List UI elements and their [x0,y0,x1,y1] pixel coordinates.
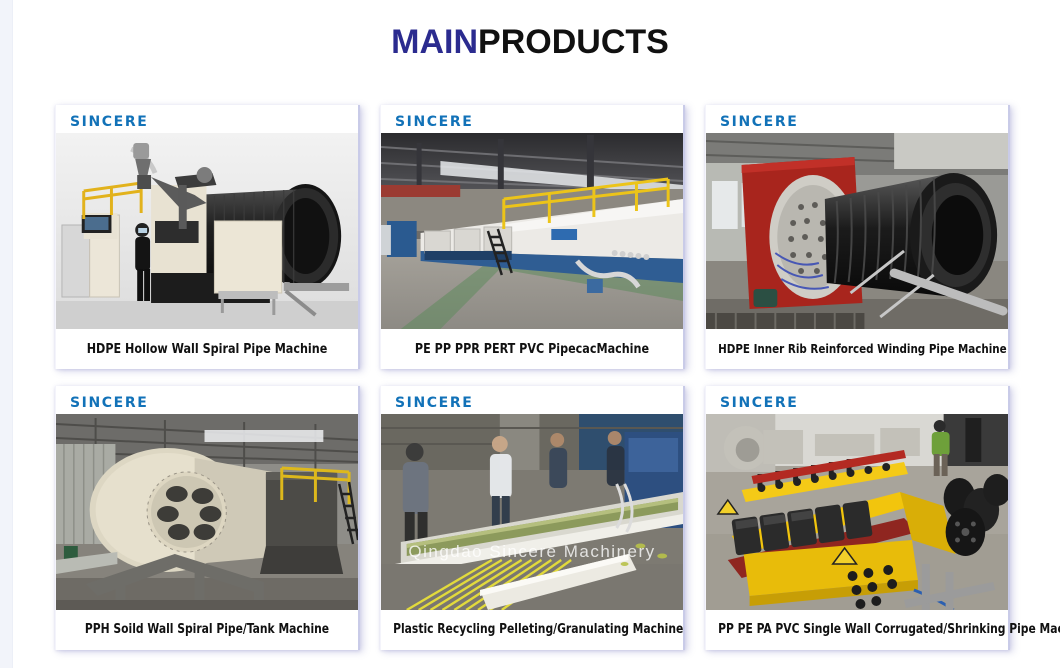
main-products-page: MAINPRODUCTS SINCERE [0,0,1060,668]
product-card[interactable]: SINCERE [705,386,1010,650]
product-photo-tank-machine [56,414,358,610]
product-caption: PP PE PA PVC Single Wall Corrugated/Shri… [718,610,996,650]
brand-logo: SINCERE [56,105,358,133]
product-card[interactable]: SINCERE [55,386,360,650]
brand-logo: SINCERE [381,105,683,133]
product-caption: HDPE Hollow Wall Spiral Pipe Machine [68,329,346,369]
page-title-main: MAIN [391,23,478,61]
product-caption: HDPE Inner Rib Reinforced Winding Pipe M… [718,329,996,369]
brand-logo: SINCERE [56,386,358,414]
product-card[interactable]: SINCERE [705,105,1010,369]
product-caption: PPH Soild Wall Spiral Pipe/Tank Machine [68,610,346,650]
product-card[interactable]: SINCERE [380,105,685,369]
product-photo-corrugator-machine [706,414,1008,610]
product-card[interactable]: SINCERE [55,105,360,369]
page-title: MAINPRODUCTS [0,0,1060,62]
product-photo-extrusion-line [381,133,683,329]
product-photo-spiral-pipe-machine [56,133,358,329]
product-card[interactable]: SINCERE [380,386,685,650]
brand-logo: SINCERE [706,386,1008,414]
brand-logo: SINCERE [706,105,1008,133]
page-title-products: PRODUCTS [478,23,669,61]
product-caption: PE PP PPR PERT PVC PipecacMachine [393,329,671,369]
product-photo-winding-machine [706,133,1008,329]
product-grid: SINCERE [55,105,1010,667]
brand-logo: SINCERE [381,386,683,414]
product-caption: Plastic Recycling Pelleting/Granulating … [393,610,671,650]
product-photo-pelletizing-line: Qingdao Sincere Machinery [381,414,683,610]
